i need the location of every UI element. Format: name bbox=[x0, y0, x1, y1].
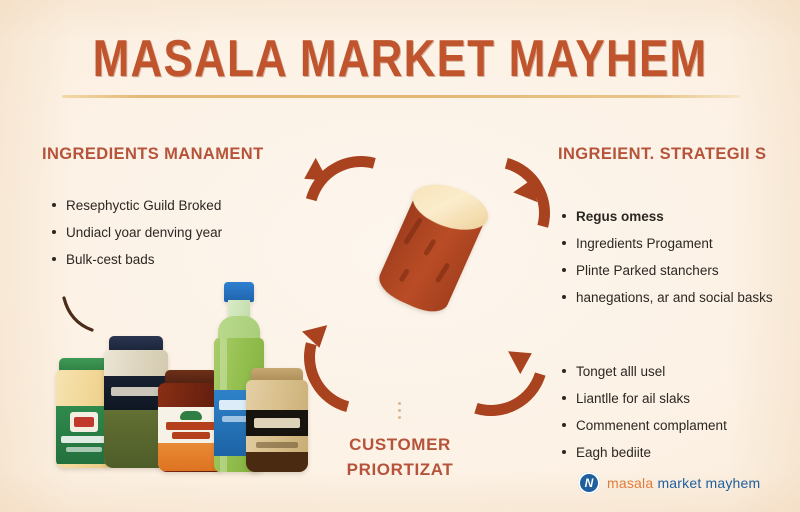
list-item: hanegations, ar and social basks bbox=[560, 284, 773, 311]
jar-contents bbox=[246, 452, 308, 472]
bottle-cap bbox=[224, 282, 254, 302]
jar-label bbox=[246, 410, 308, 436]
label-text-line bbox=[254, 418, 300, 428]
logo-monogram-icon: N bbox=[578, 472, 600, 494]
list-item: Liantlle for ail slaks bbox=[560, 385, 727, 412]
caption-dot-divider bbox=[396, 402, 402, 419]
list-item: Resephyctic Guild Broked bbox=[50, 192, 222, 219]
label-badge bbox=[70, 412, 98, 432]
list-item: Commenent complament bbox=[560, 412, 727, 439]
label-text-line bbox=[166, 422, 216, 430]
list-item: Eagh bediite bbox=[560, 439, 727, 466]
list-item: Regus omess bbox=[560, 203, 773, 230]
label-text-line bbox=[66, 447, 102, 452]
center-caption: CUSTOMER PRIORTIZAT bbox=[300, 432, 500, 482]
leaf-icon bbox=[180, 411, 202, 420]
logo-word-one: masala bbox=[607, 475, 653, 491]
logo-wordmark: masala market mayhem bbox=[607, 475, 760, 491]
product-group-image bbox=[52, 282, 278, 472]
page-title: MASALA MARKET MAYHEM bbox=[0, 30, 800, 89]
label-text-line bbox=[256, 442, 298, 448]
brand-logo: N masala market mayhem bbox=[578, 472, 760, 494]
label-text-line bbox=[172, 432, 210, 439]
list-item: Undiacl yoar denving year bbox=[50, 219, 222, 246]
center-caption-line2: PRIORTIZAT bbox=[300, 457, 500, 482]
list-item: Ingredients Progament bbox=[560, 230, 773, 257]
logo-word-two: market mayhem bbox=[657, 475, 760, 491]
center-caption-line1: CUSTOMER bbox=[300, 432, 500, 457]
label-text-line bbox=[61, 436, 107, 443]
left-bullet-list: Resephyctic Guild Broked Undiacl yoar de… bbox=[50, 192, 222, 273]
infographic-poster: MASALA MARKET MAYHEM INGREDIENTS MANAMEN… bbox=[0, 0, 800, 512]
jar-glass bbox=[246, 380, 308, 472]
title-underline-rule bbox=[62, 95, 740, 98]
right-bullet-list-secondary: Tonget alll usel Liantlle for ail slaks … bbox=[560, 358, 727, 466]
kraft-jar-beige-lid bbox=[246, 368, 308, 472]
list-item: Plinte Parked stanchers bbox=[560, 257, 773, 284]
label-text-line bbox=[111, 387, 161, 396]
right-column-heading: INGREIENT. STRATEGII S bbox=[558, 145, 766, 164]
list-item: Bulk-cest bads bbox=[50, 246, 222, 273]
left-column-heading: INGREDIENTS MANAMENT bbox=[42, 145, 264, 164]
right-bullet-list-primary: Regus omess Ingredients Progament Plinte… bbox=[560, 203, 773, 311]
list-item: Tonget alll usel bbox=[560, 358, 727, 385]
